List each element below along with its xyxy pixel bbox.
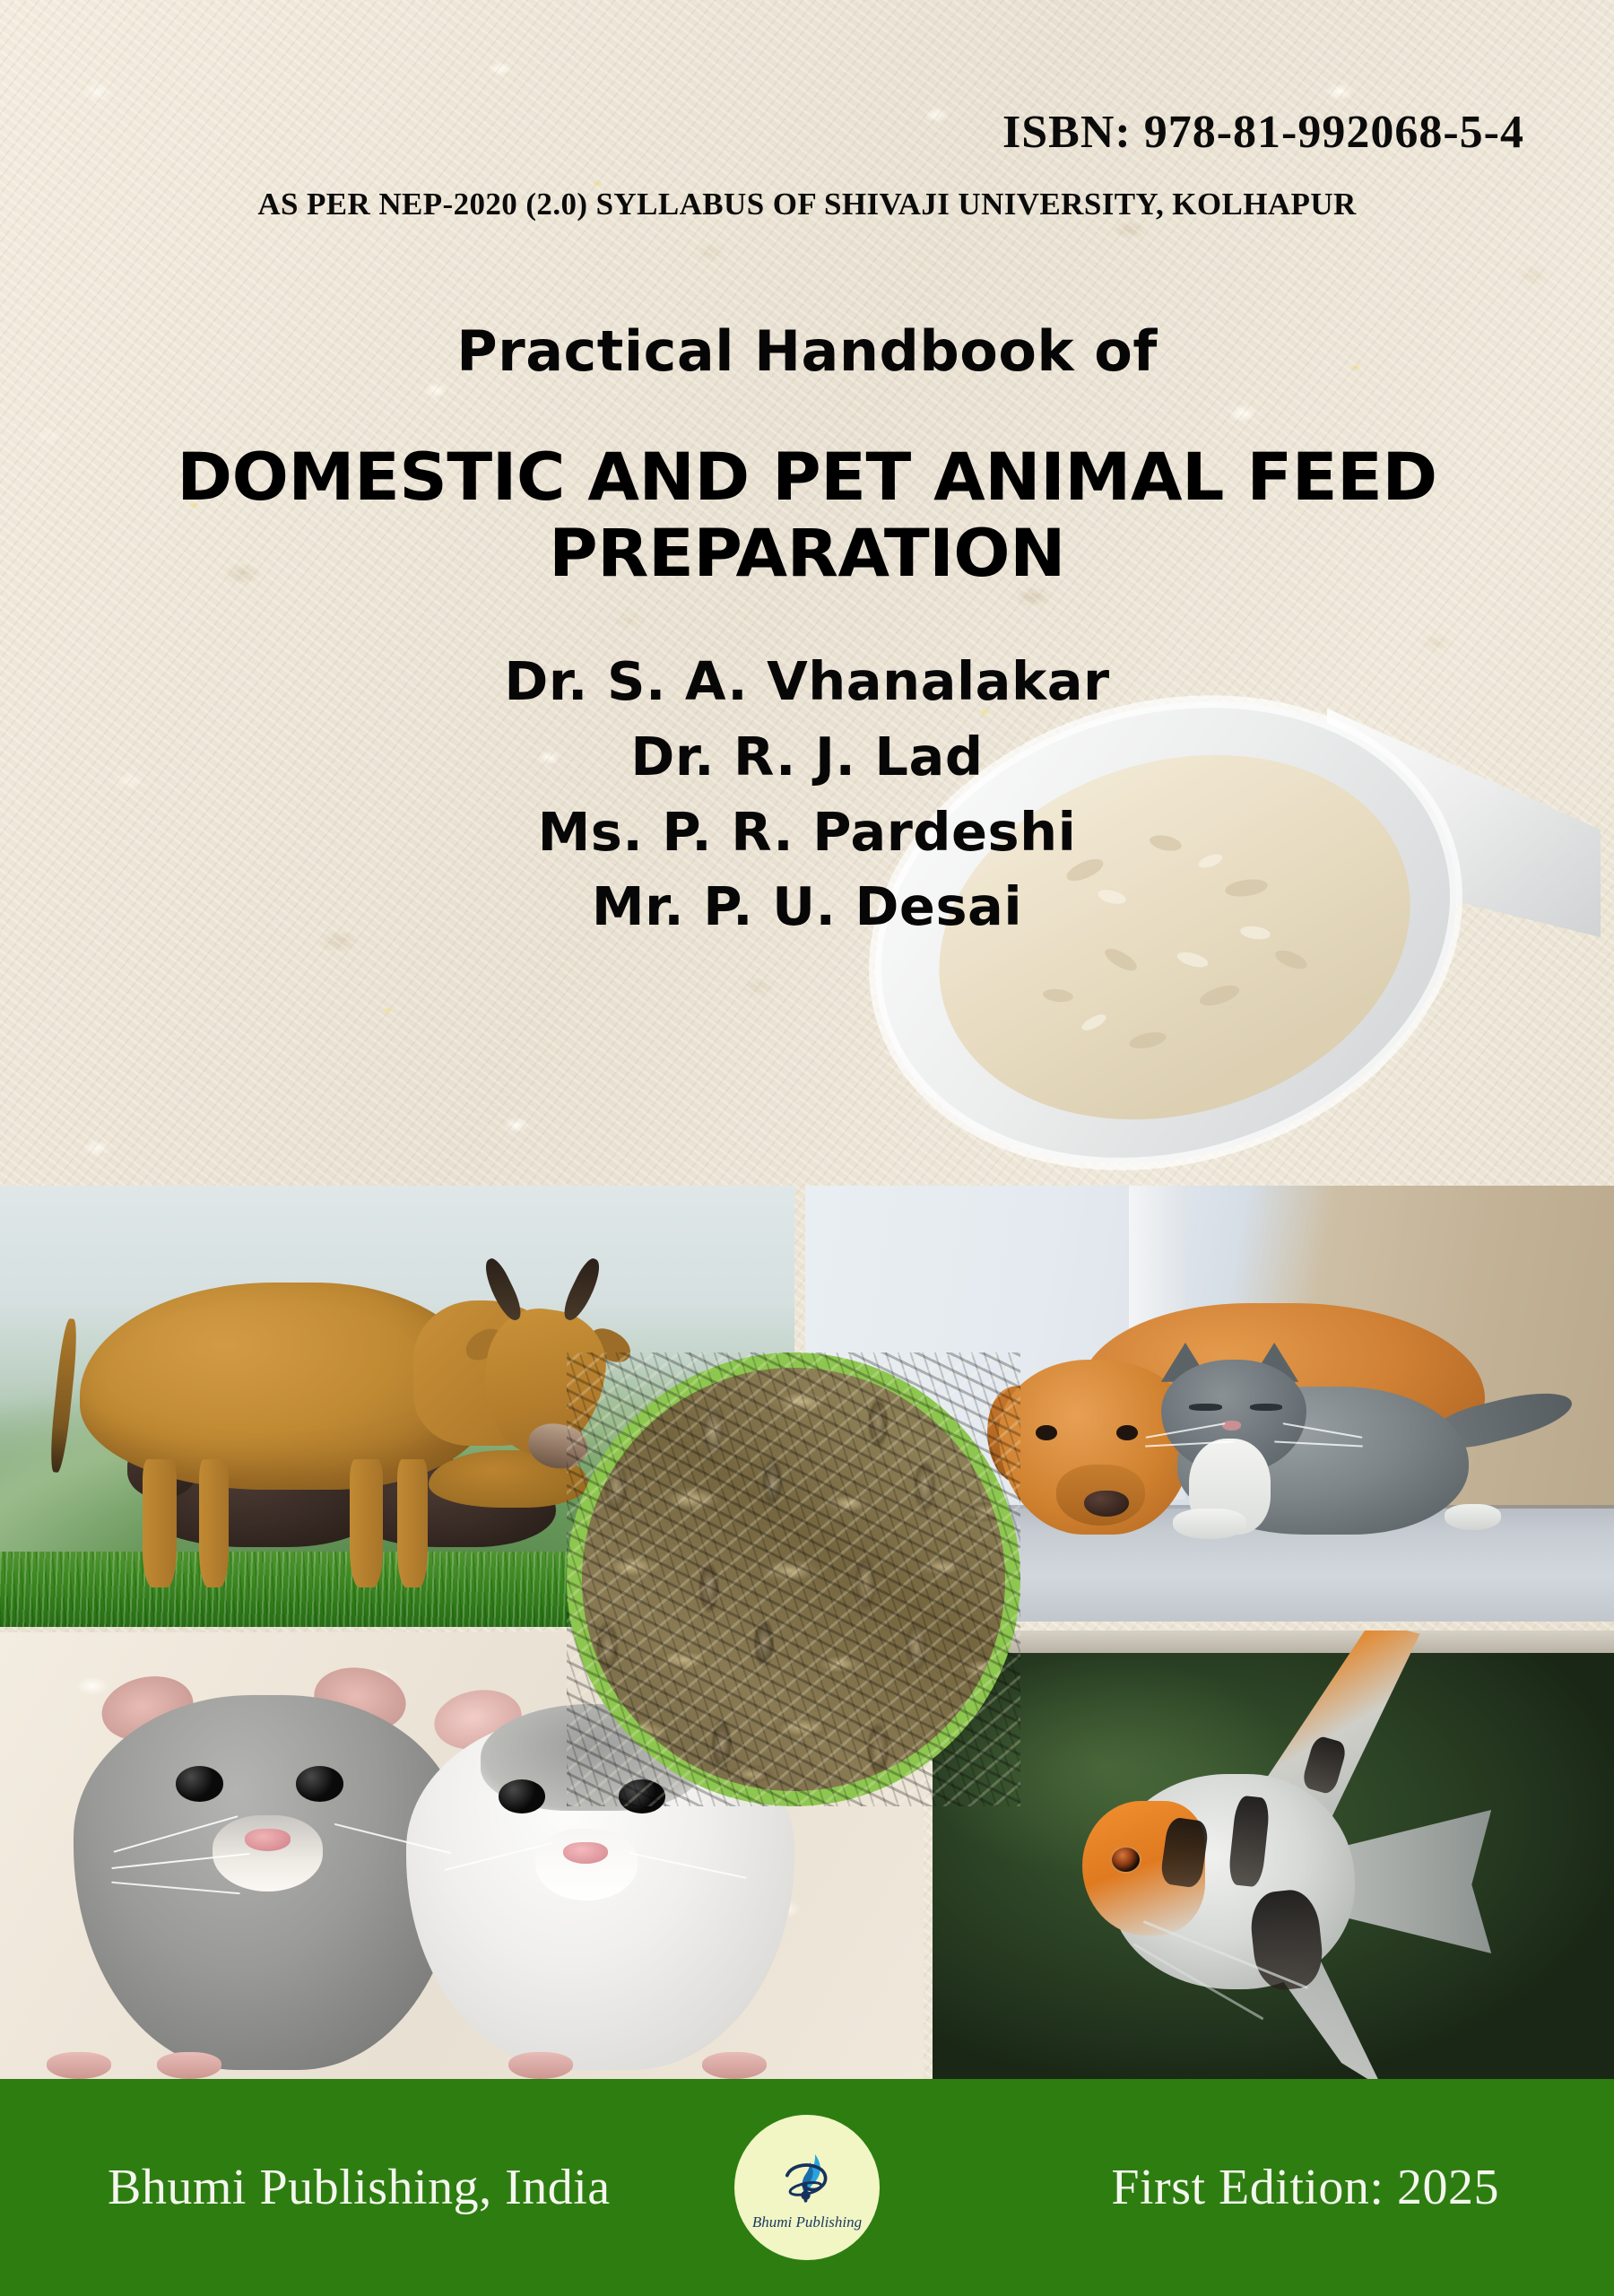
publisher-footer-bar: Bhumi Publishing, India Bhumi Publishing… (0, 2079, 1614, 2296)
author-list: Dr. S. A. Vhanalakar Dr. R. J. Lad Ms. P… (0, 644, 1614, 944)
author-name: Ms. P. R. Pardeshi (0, 795, 1614, 870)
author-name: Dr. R. J. Lad (0, 719, 1614, 795)
fish-photo (933, 1631, 1614, 2079)
page-title: DOMESTIC AND PET ANIMAL FEED PREPARATION (0, 439, 1614, 592)
publisher-name: Bhumi Publishing, India (108, 2159, 611, 2216)
feed-pellets-texture (582, 1368, 1005, 1791)
edition-text: First Edition: 2025 (1111, 2159, 1499, 2216)
publisher-logo: Bhumi Publishing (734, 2115, 880, 2260)
syllabus-note: AS PER NEP-2020 (2.0) SYLLABUS OF SHIVAJ… (0, 187, 1614, 222)
feed-pellets-photo (567, 1352, 1020, 1806)
title-prefix: Practical Handbook of (0, 318, 1614, 384)
publisher-logo-caption: Bhumi Publishing (752, 2213, 862, 2231)
author-name: Mr. P. U. Desai (0, 869, 1614, 944)
book-cover: ISBN: 978-81-992068-5-4 AS PER NEP-2020 … (0, 0, 1614, 2296)
author-name: Dr. S. A. Vhanalakar (0, 644, 1614, 719)
isbn-text: ISBN: 978-81-992068-5-4 (1002, 106, 1524, 159)
bhumi-flame-icon (774, 2149, 840, 2215)
